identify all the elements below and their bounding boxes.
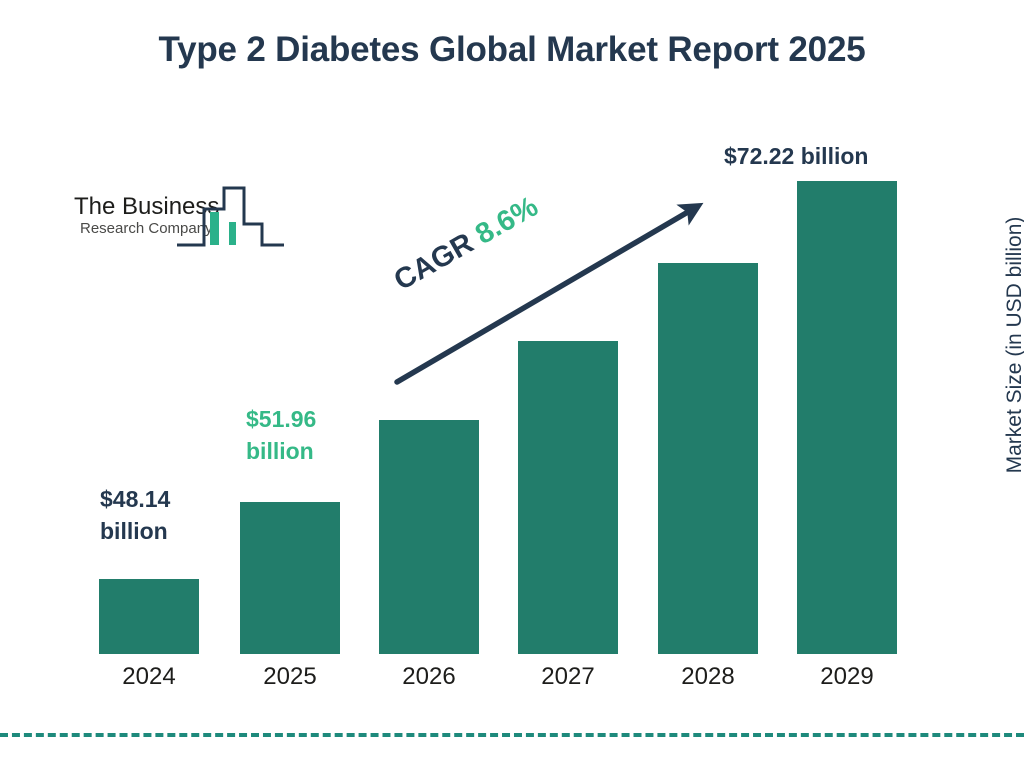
bar-chart-plot: $48.14 billion $51.96 billion $72.22 bil… xyxy=(0,0,1024,768)
footer-divider xyxy=(0,733,1024,737)
bar-2026 xyxy=(379,420,479,654)
y-axis-title: Market Size (in USD billion) xyxy=(1003,180,1024,510)
bar-2025 xyxy=(240,502,340,654)
bar-2028 xyxy=(658,263,758,654)
x-tick-2026: 2026 xyxy=(379,663,479,691)
cagr-value: 8.6% xyxy=(470,191,543,251)
value-label-2024: $48.14 billion xyxy=(100,484,170,547)
x-tick-2028: 2028 xyxy=(658,663,758,691)
cagr-label: CAGR xyxy=(389,227,479,297)
x-tick-2029: 2029 xyxy=(797,663,897,691)
x-tick-2025: 2025 xyxy=(240,663,340,691)
chart-page: Type 2 Diabetes Global Market Report 202… xyxy=(0,0,1024,768)
value-label-2025: $51.96 billion xyxy=(246,404,316,467)
cagr-annotation: CAGR 8.6% xyxy=(389,191,544,298)
value-label-2029: $72.22 billion xyxy=(724,141,868,173)
x-tick-2024: 2024 xyxy=(99,663,199,691)
bar-2029 xyxy=(797,181,897,654)
bar-2024 xyxy=(99,579,199,654)
x-tick-2027: 2027 xyxy=(518,663,618,691)
bar-2027 xyxy=(518,341,618,654)
